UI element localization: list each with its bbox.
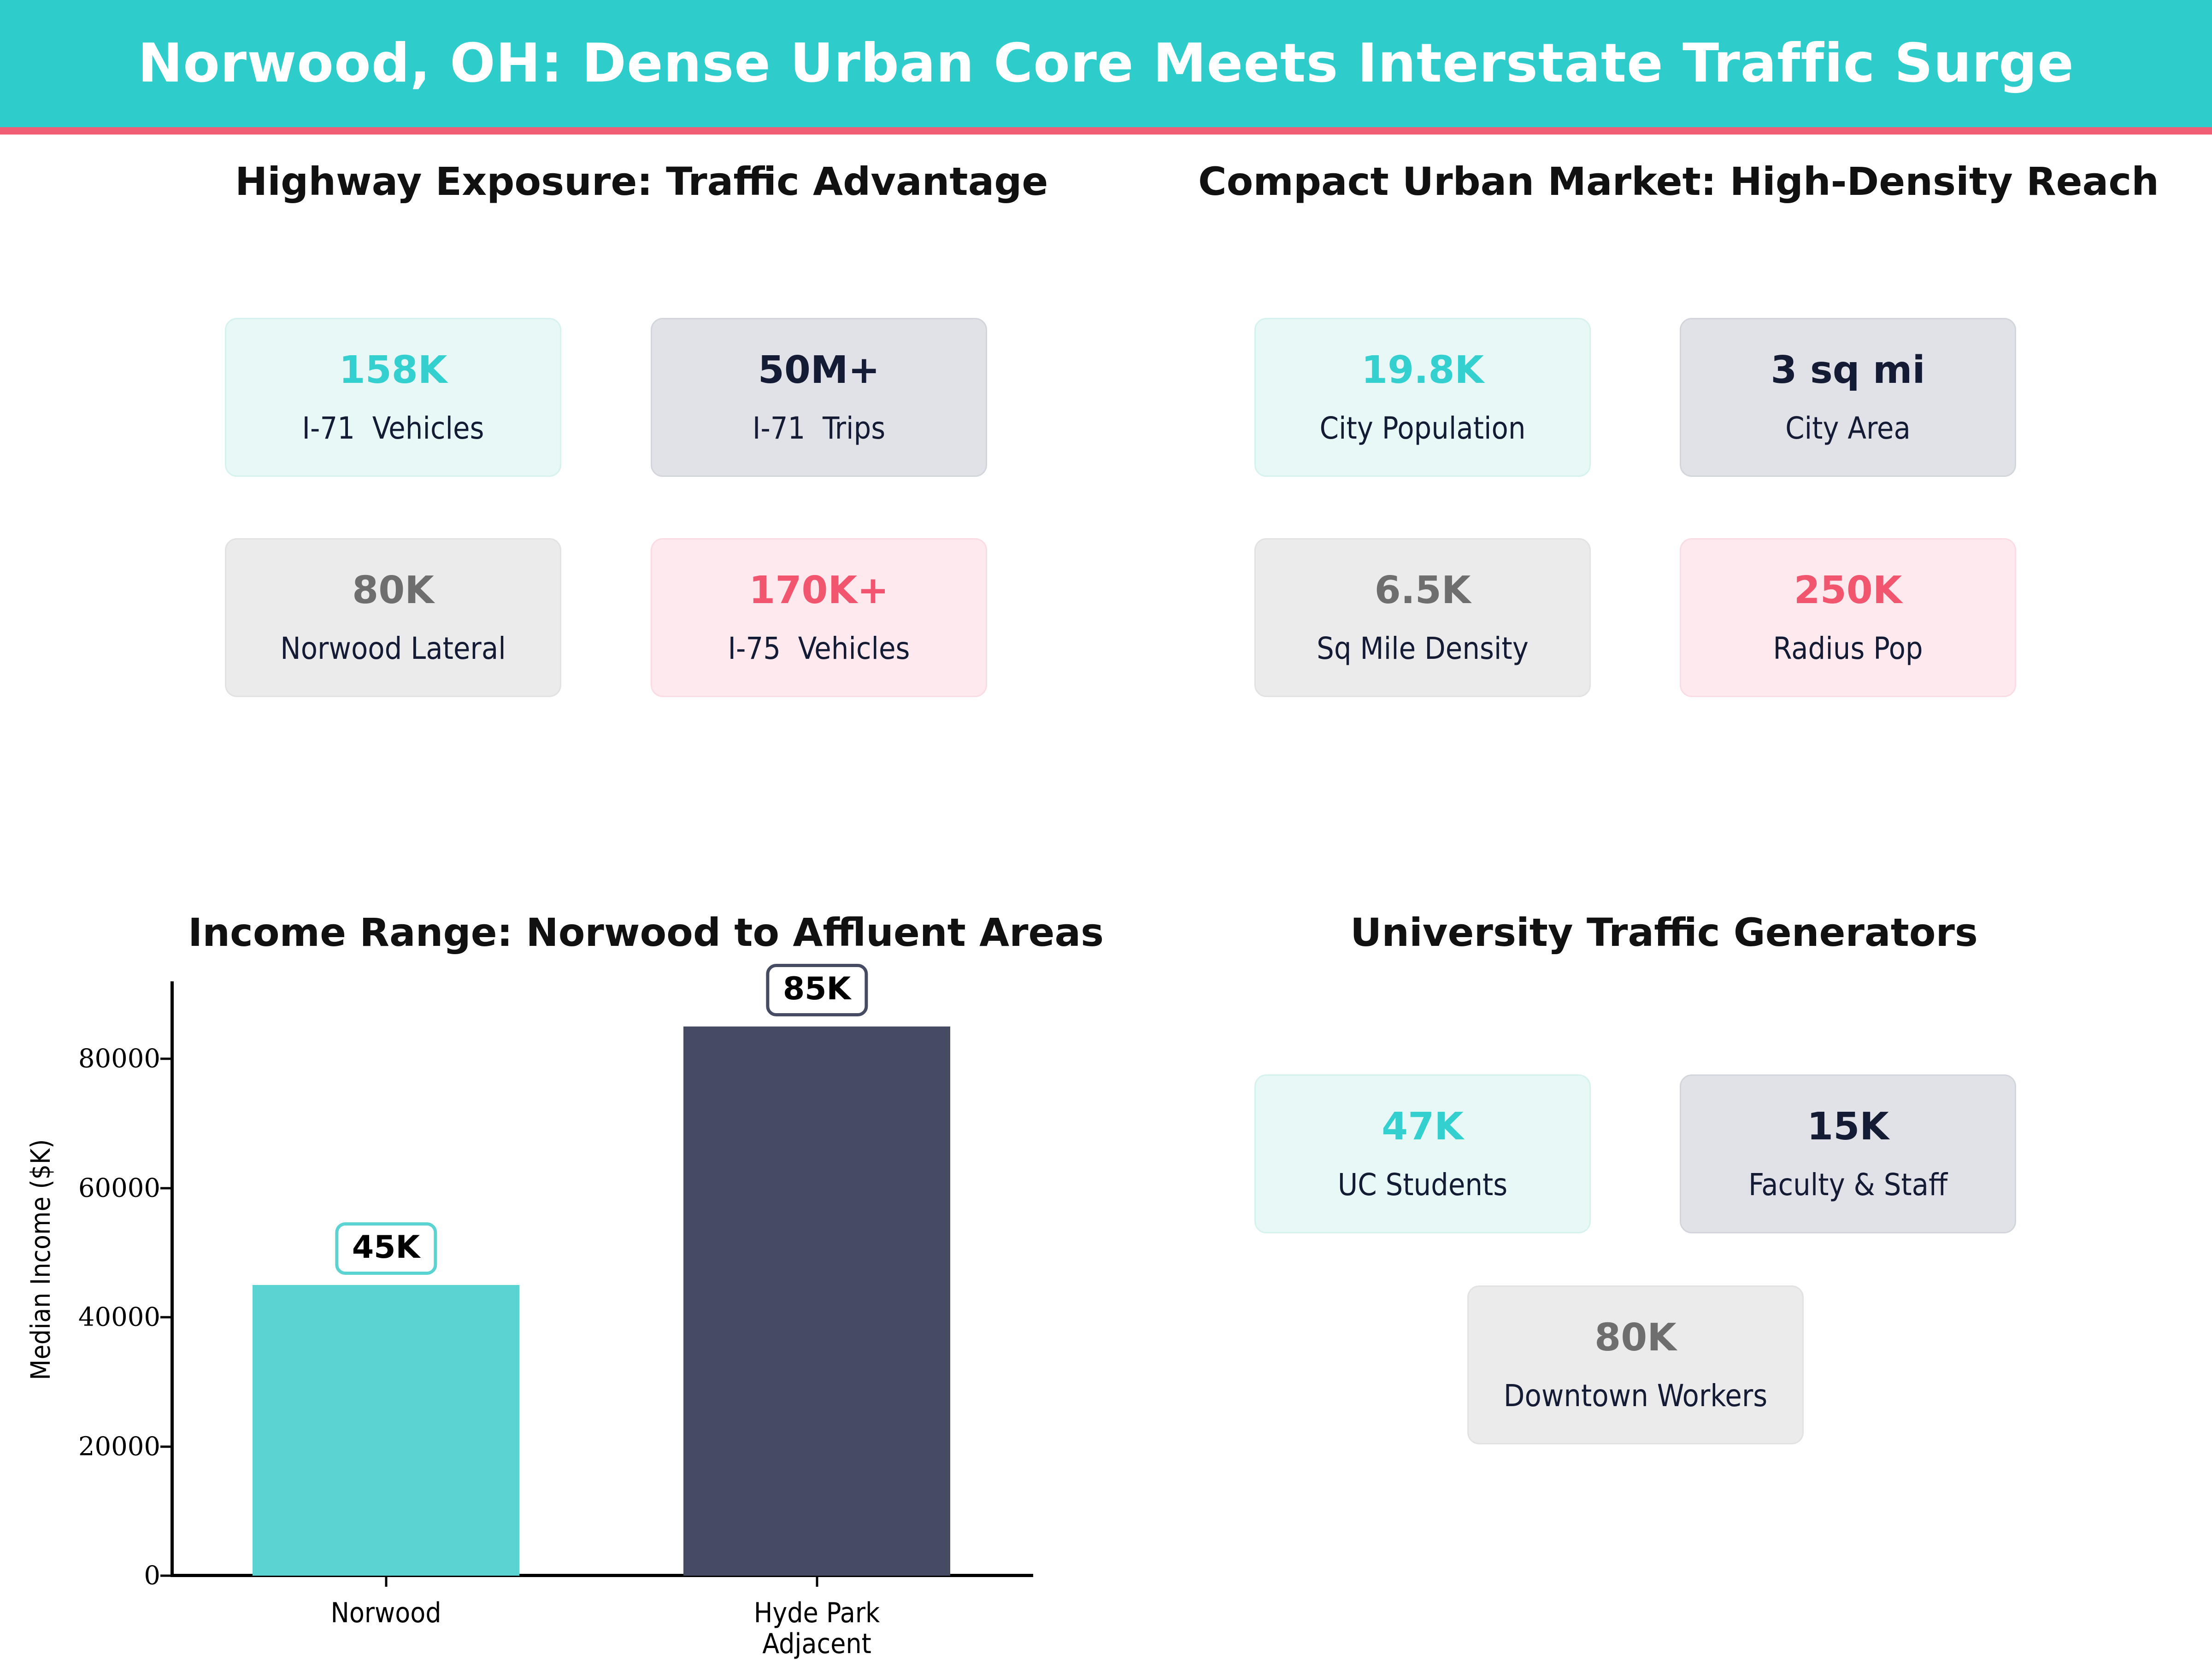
- metric-card-sq-mile-density[interactable]: 6.5K Sq Mile Density: [1254, 538, 1591, 697]
- metric-label: City Population: [1320, 413, 1526, 444]
- metric-value: 47K: [1382, 1108, 1464, 1146]
- metric-card-uc-students[interactable]: 47K UC Students: [1254, 1074, 1591, 1233]
- metric-label: City Area: [1785, 413, 1911, 444]
- metric-value: 158K: [339, 352, 447, 389]
- chart-y-tick-mark: [160, 1316, 171, 1319]
- chart-x-tick-label: Hyde Park Adjacent: [754, 1598, 880, 1660]
- metric-card-faculty-staff[interactable]: 15K Faculty & Staff: [1680, 1074, 2016, 1233]
- metric-card-city-area[interactable]: 3 sq mi City Area: [1680, 318, 2016, 477]
- chart-y-tick-mark: [160, 1187, 171, 1189]
- metric-label: Sq Mile Density: [1317, 633, 1529, 664]
- metric-label: Downtown Workers: [1504, 1381, 1767, 1411]
- chart-y-tick-label: 40000: [78, 1302, 160, 1332]
- panel-title-compact-urban-market: Compact Urban Market: High-Density Reach: [1198, 159, 2159, 204]
- header-accent-stripe: [0, 127, 2212, 135]
- chart-y-tick-mark: [160, 1058, 171, 1060]
- metric-card-radius-pop[interactable]: 250K Radius Pop: [1680, 538, 2016, 697]
- metric-value: 80K: [1594, 1319, 1677, 1357]
- metric-card-i71-trips[interactable]: 50M+ I-71 Trips: [651, 318, 987, 477]
- chart-y-tick-label: 60000: [78, 1173, 160, 1203]
- metric-value: 170K+: [749, 572, 888, 610]
- metric-card-i71-vehicles[interactable]: 158K I-71 Vehicles: [225, 318, 561, 477]
- chart-bar[interactable]: [253, 1285, 520, 1576]
- metric-label: I-71 Vehicles: [302, 413, 484, 444]
- metric-value: 15K: [1807, 1108, 1889, 1146]
- chart-y-tick-label: 0: [144, 1561, 160, 1591]
- metric-value: 80K: [352, 572, 434, 610]
- header-bar: Norwood, OH: Dense Urban Core Meets Inte…: [0, 0, 2212, 127]
- chart-y-tick-mark: [160, 1575, 171, 1577]
- metric-card-downtown-workers[interactable]: 80K Downtown Workers: [1467, 1285, 1804, 1444]
- chart-bar[interactable]: [683, 1027, 951, 1576]
- metric-label: Radius Pop: [1773, 633, 1923, 664]
- metric-label: I-75 Vehicles: [728, 633, 910, 664]
- metric-label: UC Students: [1338, 1170, 1508, 1200]
- chart-y-tick-label: 20000: [78, 1431, 160, 1461]
- chart-y-axis-label: Median Income ($K): [25, 1112, 56, 1407]
- metric-card-city-population[interactable]: 19.8K City Population: [1254, 318, 1591, 477]
- metric-value: 6.5K: [1375, 572, 1471, 610]
- chart-bar-value-label: 45K: [335, 1222, 437, 1275]
- chart-x-tick-mark: [385, 1576, 387, 1587]
- metric-card-norwood-lateral[interactable]: 80K Norwood Lateral: [225, 538, 561, 697]
- chart-x-tick-label: Norwood: [330, 1598, 441, 1629]
- panel-title-income-range: Income Range: Norwood to Affluent Areas: [188, 910, 1104, 955]
- metric-label: Norwood Lateral: [280, 633, 506, 664]
- chart-bar-value-label: 85K: [766, 964, 868, 1016]
- metric-value: 50M+: [758, 352, 880, 389]
- chart-x-tick-mark: [816, 1576, 818, 1587]
- metric-label: Faculty & Staff: [1748, 1170, 1947, 1200]
- metric-card-i75-vehicles[interactable]: 170K+ I-75 Vehicles: [651, 538, 987, 697]
- panel-title-highway-exposure: Highway Exposure: Traffic Advantage: [235, 159, 1048, 204]
- chart-y-tick-mark: [160, 1445, 171, 1448]
- metric-value: 3 sq mi: [1771, 352, 1925, 389]
- chart-y-tick-label: 80000: [78, 1044, 160, 1074]
- metric-value: 250K: [1794, 572, 1902, 610]
- chart-plot-area: 02000040000600008000045KNorwood85KHyde P…: [171, 981, 1032, 1576]
- page-title: Norwood, OH: Dense Urban Core Meets Inte…: [138, 37, 2074, 90]
- metric-label: I-71 Trips: [753, 413, 885, 444]
- income-bar-chart: Median Income ($K) 020000400006000080000…: [0, 958, 1060, 1622]
- metric-value: 19.8K: [1361, 352, 1484, 389]
- panel-title-university-traffic-generators: University Traffic Generators: [1350, 910, 1978, 955]
